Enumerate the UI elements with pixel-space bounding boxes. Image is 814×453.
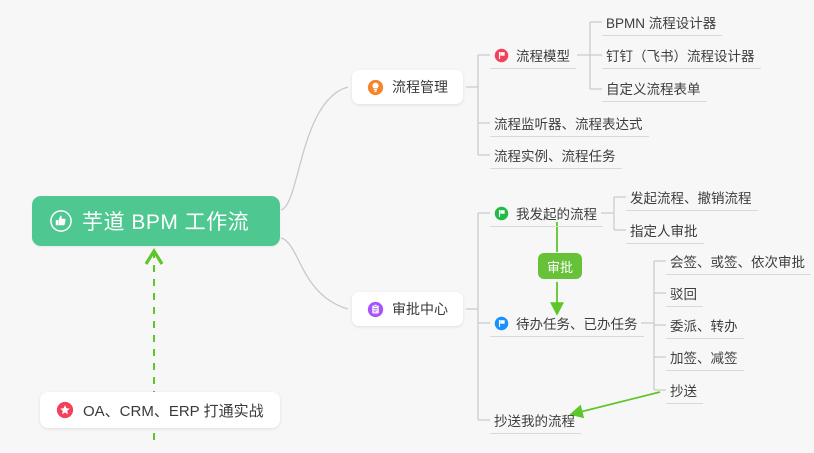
approval-badge: 审批: [538, 253, 582, 279]
node-add-remove-sign[interactable]: 加签、减签: [666, 344, 744, 371]
node-label: 审批中心: [392, 299, 448, 319]
node-label: 抄送我的流程: [494, 410, 575, 430]
node-my-started-process[interactable]: 我发起的流程: [490, 200, 603, 227]
lightbulb-icon: [367, 79, 384, 96]
clipboard-icon: [367, 301, 384, 318]
mindmap-canvas: 芋道 BPM 工作流 流程管理 流程模型 流程监听器、流程表达式 流程实例、流程…: [0, 0, 814, 453]
node-label: 加签、减签: [670, 347, 738, 367]
link-root-to-process-management: [281, 87, 348, 210]
node-label: 发起流程、撤销流程: [630, 187, 752, 207]
node-countersign[interactable]: 会签、或签、依次审批: [666, 248, 811, 275]
node-label: 流程模型: [516, 45, 570, 65]
flag-icon: [494, 316, 509, 331]
node-assignee-approval[interactable]: 指定人审批: [626, 217, 704, 244]
flag-icon: [494, 48, 509, 63]
node-label: 我发起的流程: [516, 203, 597, 223]
node-approval-center[interactable]: 审批中心: [352, 292, 463, 326]
node-bpmn-designer[interactable]: BPMN 流程设计器: [602, 9, 722, 36]
node-process-listener[interactable]: 流程监听器、流程表达式: [490, 110, 649, 137]
node-label: OA、CRM、ERP 打通实战: [83, 400, 264, 421]
node-integration-practice[interactable]: OA、CRM、ERP 打通实战: [40, 392, 280, 428]
node-label: 驳回: [670, 283, 697, 303]
node-label: 钉钉（飞书）流程设计器: [606, 45, 755, 65]
flag-icon: [494, 206, 509, 221]
node-dingtalk-designer[interactable]: 钉钉（飞书）流程设计器: [602, 42, 761, 69]
node-label: 会签、或签、依次审批: [670, 251, 805, 271]
node-process-model[interactable]: 流程模型: [490, 42, 576, 69]
node-reject[interactable]: 驳回: [666, 280, 703, 307]
node-custom-form[interactable]: 自定义流程表单: [602, 75, 707, 102]
node-label: 流程监听器、流程表达式: [494, 113, 643, 133]
link-root-to-approval-center: [281, 238, 348, 309]
node-label: 指定人审批: [630, 220, 698, 240]
node-label: 抄送: [670, 380, 697, 400]
node-cc-to-me[interactable]: 抄送我的流程: [490, 407, 581, 434]
node-cc[interactable]: 抄送: [666, 377, 703, 404]
root-label: 芋道 BPM 工作流: [82, 206, 249, 236]
node-todo-done-tasks[interactable]: 待办任务、已办任务: [490, 310, 644, 337]
arrow-cc-to-process: [572, 392, 660, 414]
node-process-management[interactable]: 流程管理: [352, 70, 463, 104]
node-label: BPMN 流程设计器: [606, 12, 716, 32]
node-delegate-transfer[interactable]: 委派、转办: [666, 312, 744, 339]
node-label: 待办任务、已办任务: [516, 313, 638, 333]
node-process-instance[interactable]: 流程实例、流程任务: [490, 142, 622, 169]
root-node[interactable]: 芋道 BPM 工作流: [32, 196, 280, 246]
node-label: 流程管理: [392, 77, 448, 97]
node-start-cancel-process[interactable]: 发起流程、撤销流程: [626, 184, 758, 211]
node-label: 委派、转办: [670, 315, 738, 335]
node-label: 自定义流程表单: [606, 78, 701, 98]
thumbs-up-icon: [50, 210, 72, 232]
star-icon: [56, 401, 74, 419]
node-label: 流程实例、流程任务: [494, 145, 616, 165]
